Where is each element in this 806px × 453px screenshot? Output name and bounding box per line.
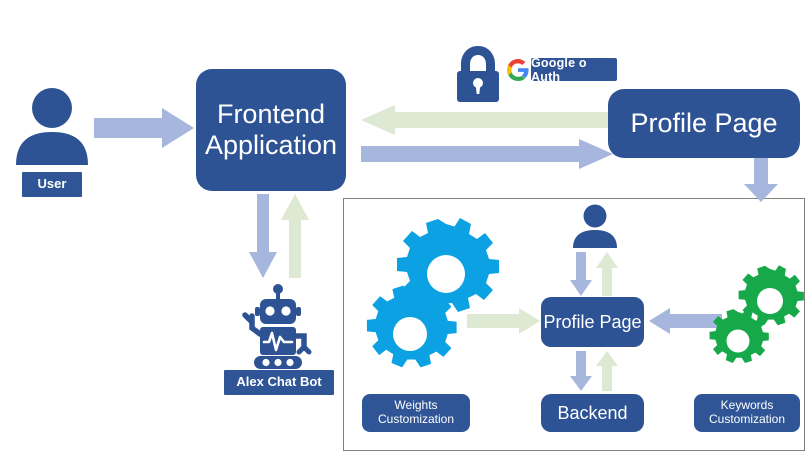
arrow-frontend-to-profile [361,139,613,169]
node-profile-page-inner-label: Profile Page [543,312,641,333]
arrow-user-to-frontend [94,108,194,148]
arrow-chatbot-to-frontend [281,194,309,278]
arrow-frontend-to-chatbot [249,194,277,278]
user-actor [10,85,95,165]
arrow-profile-to-frontend [361,105,613,135]
chatbot-actor [230,284,326,370]
padlock-icon [452,44,504,102]
arrow-weights-to-profile [467,308,540,334]
google-g-icon [506,58,530,82]
node-profile-page-inner[interactable]: Profile Page [541,297,644,347]
frontend-label-line1: Frontend [217,99,325,129]
node-backend[interactable]: Backend [541,394,644,432]
user-label: User [22,172,82,197]
keywords-gears [707,268,806,378]
arrow-panel-user-to-profile [570,252,592,296]
node-profile-page-outer[interactable]: Profile Page [608,89,800,158]
panel-user-actor [570,204,620,248]
weights-caption-line1: Weights [394,398,437,412]
robot-icon [230,284,326,370]
architecture-diagram-canvas: User Frontend Application Google o Au [0,0,806,453]
keywords-caption-line1: Keywords [721,398,774,412]
chatbot-label-text: Alex Chat Bot [236,375,321,390]
keywords-caption-text: Keywords Customization [709,399,785,427]
weights-caption-text: Weights Customization [378,399,454,427]
node-frontend-application-label: Frontend Application [205,99,337,161]
chatbot-label: Alex Chat Bot [224,370,334,395]
keywords-caption-line2: Customization [709,412,785,426]
node-backend-label: Backend [557,403,627,424]
user-label-text: User [38,177,67,192]
arrow-profile-to-backend [570,351,592,391]
arrow-profile-outer-to-panel [744,158,778,202]
node-profile-page-outer-label: Profile Page [630,108,777,139]
user-person-icon [10,85,95,165]
weights-caption-line2: Customization [378,412,454,426]
arrow-backend-to-profile [596,351,618,391]
auth-lock [452,44,504,102]
node-frontend-application[interactable]: Frontend Application [196,69,346,191]
weights-gears [363,222,493,382]
weights-customization-caption: Weights Customization [362,394,470,432]
frontend-label-line2: Application [205,130,337,160]
user-person-icon [570,204,620,248]
google-oauth-badge-label: Google o Auth [531,56,617,84]
google-oauth-badge[interactable]: Google o Auth [531,58,617,81]
google-g-icon-wrap [506,58,530,82]
arrow-profile-to-panel-user [596,252,618,296]
keywords-customization-caption: Keywords Customization [694,394,800,432]
